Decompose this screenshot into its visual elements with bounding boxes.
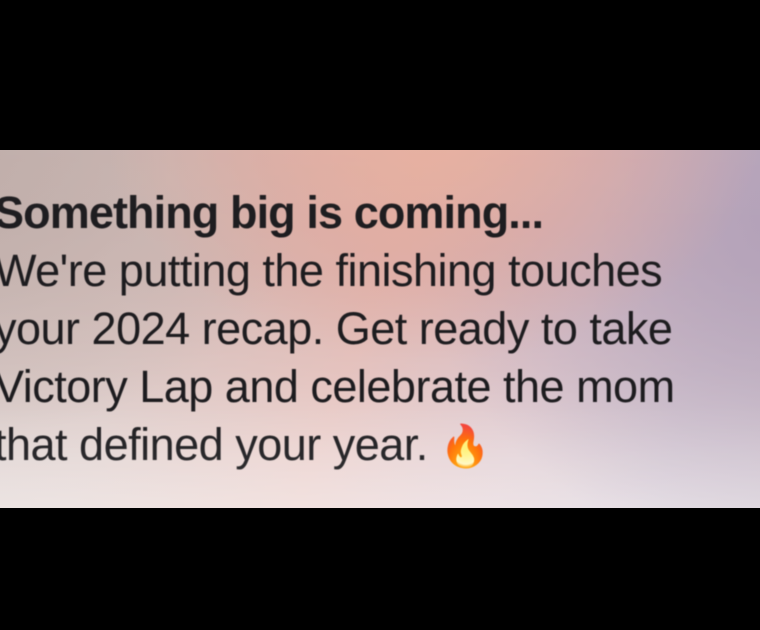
notification-body-line-4: that defined your year. 🔥 bbox=[0, 416, 760, 475]
screenshot-canvas: Something big is coming... We're putting… bbox=[0, 0, 760, 630]
letterbox-bar-bottom bbox=[0, 508, 760, 630]
notification-body-line-2: your 2024 recap. Get ready to take bbox=[0, 300, 760, 358]
notification-body-line-3: Victory Lap and celebrate the mom bbox=[0, 358, 760, 416]
notification-body-line-1: We're putting the finishing touches bbox=[0, 242, 760, 300]
notification-body-line-4-text: that defined your year. bbox=[0, 419, 440, 470]
fire-emoji: 🔥 bbox=[440, 423, 491, 469]
letterbox-bar-top bbox=[0, 0, 760, 150]
notification-text-block: Something big is coming... We're putting… bbox=[0, 184, 760, 475]
notification-headline: Something big is coming... bbox=[0, 184, 760, 242]
notification-banner[interactable]: Something big is coming... We're putting… bbox=[0, 150, 760, 508]
